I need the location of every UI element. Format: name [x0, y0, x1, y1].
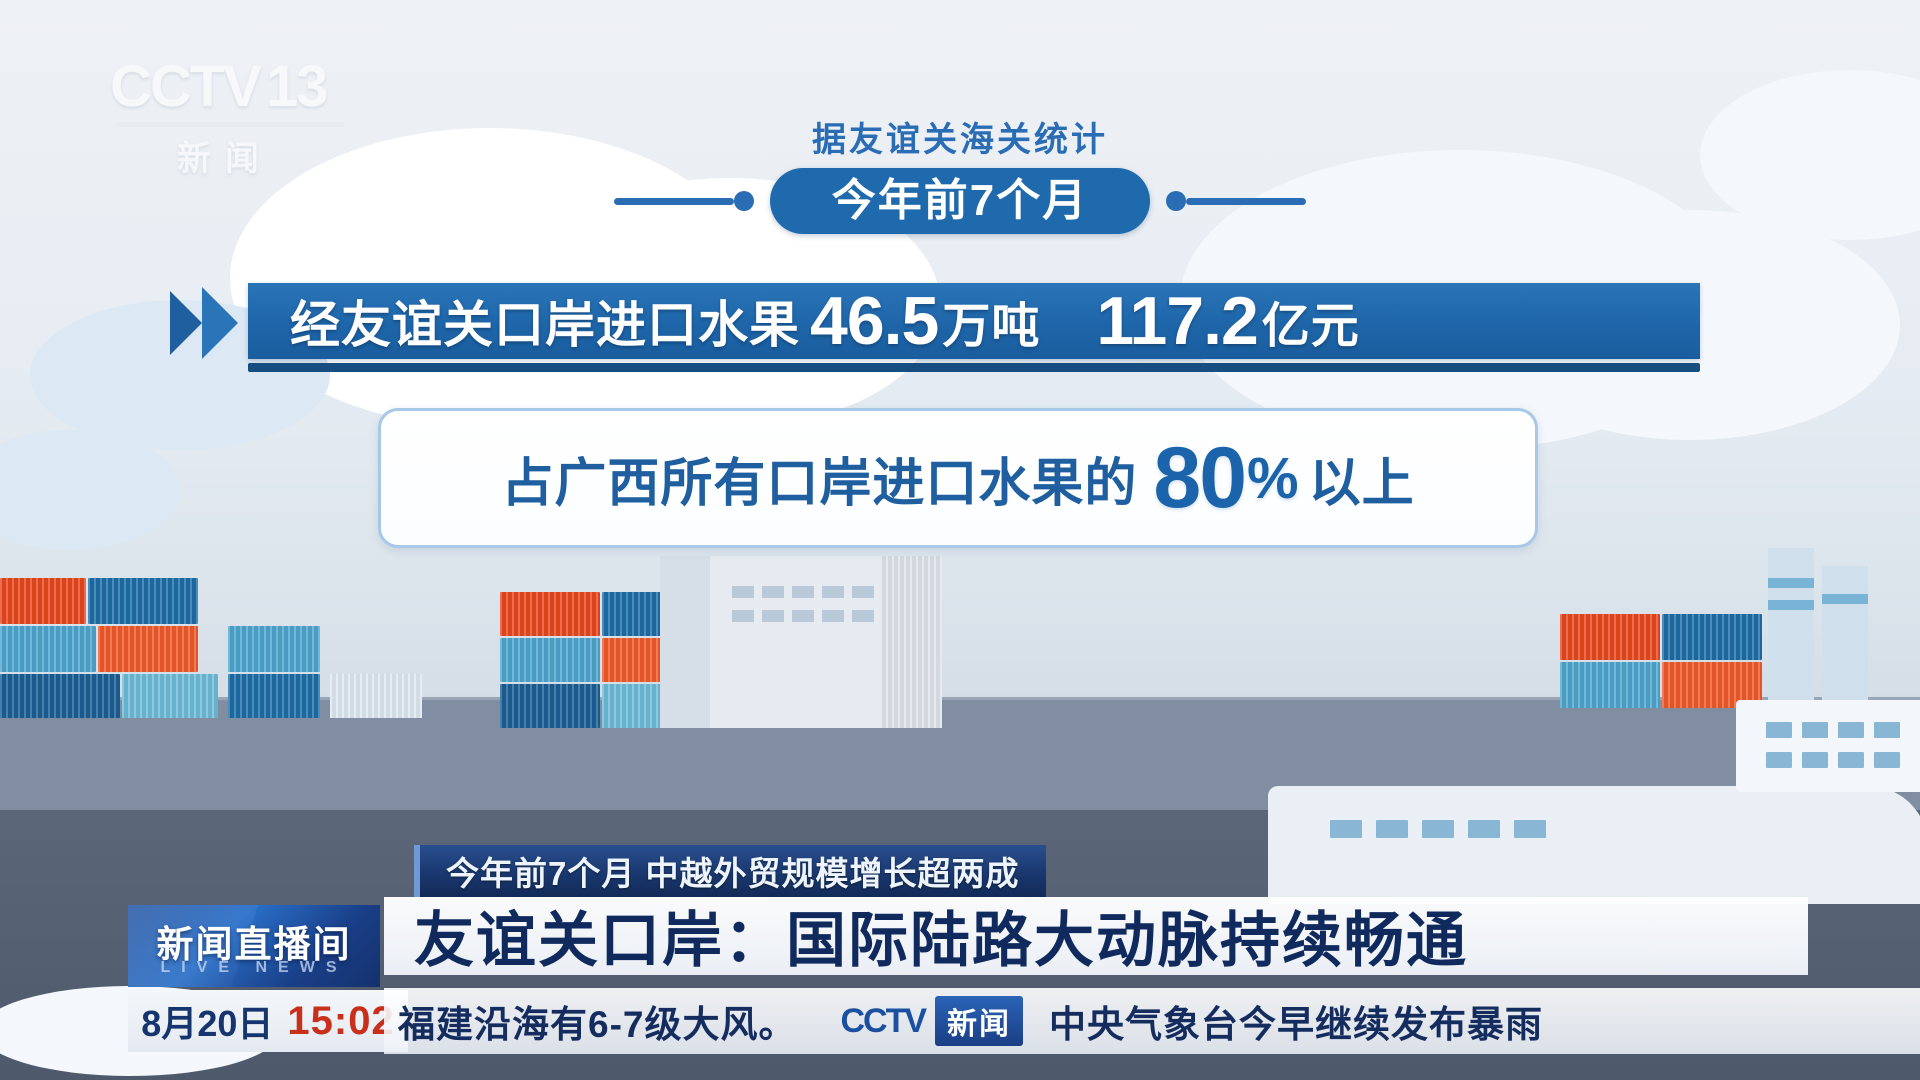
ship-window: [1468, 820, 1500, 838]
banner-unit-tons: 万吨: [942, 286, 1040, 356]
infographic-overlay: 据友谊关海关统计 今年前7个月 经友谊关口岸进口水果 46.5 万吨 117.2…: [0, 0, 1920, 700]
ship-window: [1514, 820, 1546, 838]
banner-value-yuan: 117.2: [1096, 282, 1257, 360]
connector-dot: [1166, 191, 1186, 211]
share-stat-card: 占广西所有口岸进口水果的 80 % 以上: [378, 408, 1538, 548]
card-value: 80: [1153, 429, 1245, 528]
ship-window: [1874, 752, 1900, 768]
ship-window: [1766, 752, 1792, 768]
ship-hull: [1268, 786, 1920, 904]
card-lead-text: 占广西所有口岸进口水果的: [501, 441, 1137, 516]
banner-value-tons: 46.5: [810, 282, 938, 360]
ship-window: [1802, 722, 1828, 738]
ship-superstructure: [1736, 700, 1920, 792]
ship-window: [1874, 722, 1900, 738]
stat-banner-wrap: 经友谊关口岸进口水果 46.5 万吨 117.2 亿元: [190, 283, 1700, 363]
connector-right: [1166, 191, 1306, 211]
ship-window: [1330, 820, 1362, 838]
connector-dot: [734, 191, 754, 211]
stat-banner: 经友谊关口岸进口水果 46.5 万吨 117.2 亿元: [248, 283, 1700, 359]
banner-lead-text: 经友谊关口岸进口水果: [290, 285, 800, 357]
ship-window: [1802, 752, 1828, 768]
ship-window: [1376, 820, 1408, 838]
connector-bar: [614, 198, 734, 205]
infographic-kicker: 据友谊关海关统计: [0, 112, 1920, 161]
ship-window: [1838, 752, 1864, 768]
card-percent-sign: %: [1247, 445, 1299, 512]
banner-underline: [248, 363, 1700, 372]
ship-window: [1766, 722, 1792, 738]
double-arrow-icon: [168, 285, 246, 361]
ship-window: [1422, 820, 1454, 838]
connector-left: [614, 191, 754, 211]
period-pill: 今年前7个月: [770, 168, 1150, 234]
infographic-pill-row: 今年前7个月: [0, 168, 1920, 234]
card-tail-text: 以上: [1309, 441, 1415, 516]
ship-window: [1838, 722, 1864, 738]
banner-unit-yuan: 亿元: [1262, 286, 1360, 356]
connector-bar: [1186, 198, 1306, 205]
